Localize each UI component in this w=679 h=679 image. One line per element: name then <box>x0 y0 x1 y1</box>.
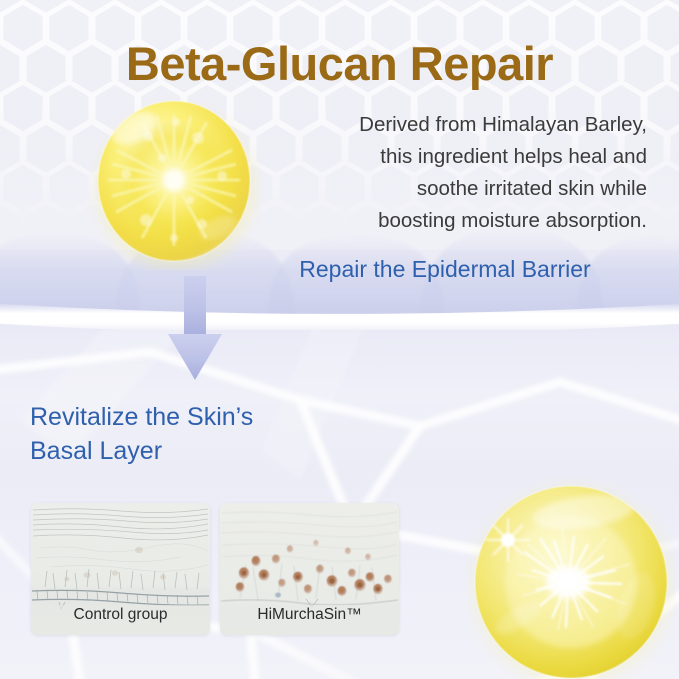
barrier-white-band <box>0 300 679 330</box>
comparison-panels: Control group <box>31 503 399 635</box>
basal-heading-line-2: Basal Layer <box>30 434 360 468</box>
header-description: Derived from Himalayan Barley, this ingr… <box>299 109 647 237</box>
panel-himurchasin: HiMurchaSin™ <box>220 503 399 635</box>
description-line-4: boosting moisture absorption. <box>299 205 647 237</box>
description-line-2: this ingredient helps heal and <box>299 141 647 173</box>
arrow-down-icon <box>160 276 230 386</box>
panel-label-himurchasin: HiMurchaSin™ <box>220 606 399 624</box>
description-line-1: Derived from Himalayan Barley, <box>299 109 647 141</box>
golden-beta-glucan-sphere-bottom <box>466 478 676 679</box>
basal-layer-heading: Revitalize the Skin’s Basal Layer <box>30 400 360 468</box>
panel-label-control-group: Control group <box>31 606 210 624</box>
panel-control-group: Control group <box>31 503 210 635</box>
golden-beta-glucan-sphere-top <box>86 88 262 270</box>
page-title: Beta-Glucan Repair <box>0 36 679 91</box>
beta-glucan-infographic: Beta-Glucan Repair Derived from Himalaya… <box>0 0 679 679</box>
basal-heading-line-1: Revitalize the Skin’s <box>30 400 360 434</box>
barrier-caption: Repair the Epidermal Barrier <box>230 256 660 283</box>
description-line-3: soothe irritated skin while <box>299 173 647 205</box>
